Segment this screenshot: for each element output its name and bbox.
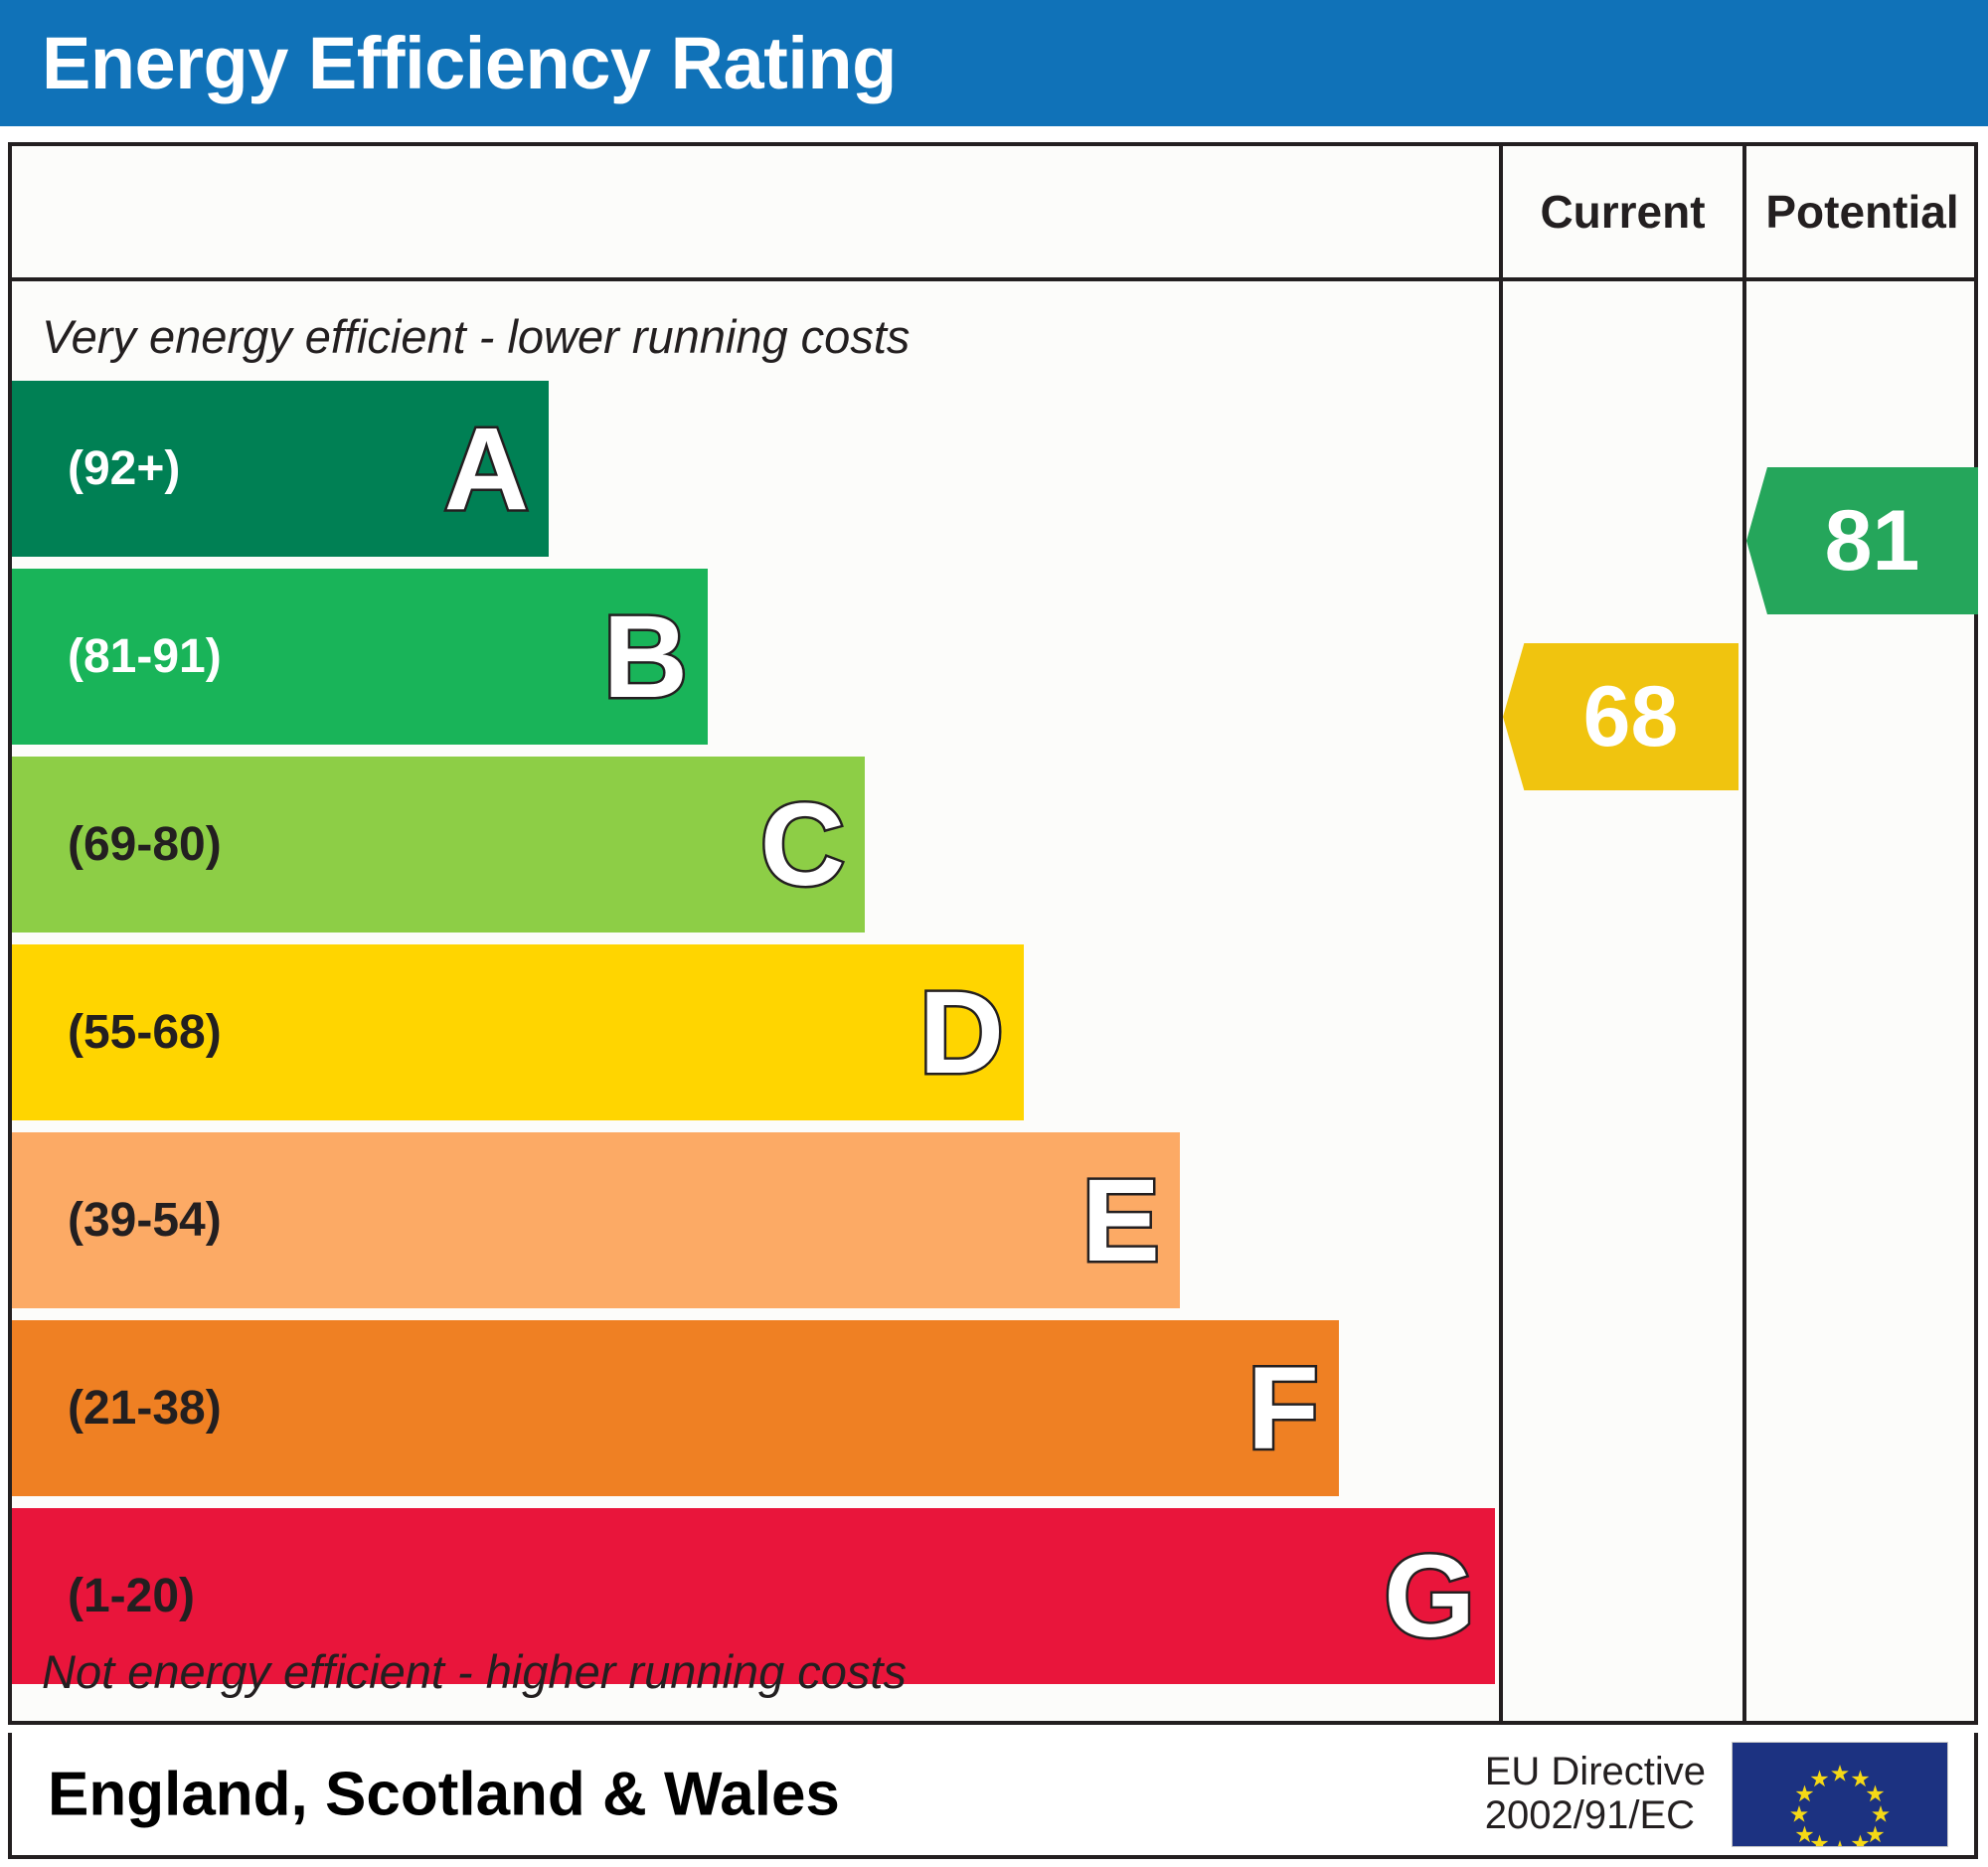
band-d: (55-68) D [12,944,1024,1120]
current-rating-value: 68 [1583,674,1679,760]
band-c-range: (69-80) [68,821,222,869]
band-row-a: (92+) A [12,381,1499,557]
column-header-row: Current Potential [12,146,1974,281]
eu-directive-line2: 2002/91/EC [1485,1794,1706,1839]
band-row-c: (69-80) C [12,757,1499,933]
band-row-e: (39-54) E [12,1132,1499,1308]
band-a-letter: A [444,411,529,528]
eu-directive-label: EU Directive 2002/91/EC [1485,1750,1706,1839]
column-header-current: Current [1499,146,1742,277]
band-b-range: (81-91) [68,633,222,681]
band-a-range: (92+) [68,445,180,493]
eu-flag-icon [1732,1742,1948,1847]
page-title: Energy Efficiency Rating [42,27,897,100]
band-d-range: (55-68) [68,1009,222,1057]
current-rating-cell: 68 [1503,643,1739,790]
band-list: (92+) A (81-91) B (69-80) C [12,381,1499,1696]
region-label: England, Scotland & Wales [48,1759,840,1829]
band-b: (81-91) B [12,569,708,745]
bands-area: Very energy efficient - lower running co… [12,281,1499,1721]
potential-rating-arrow: 81 [1746,467,1978,614]
band-e: (39-54) E [12,1132,1180,1308]
band-row-b: (81-91) B [12,569,1499,745]
column-header-potential: Potential [1742,146,1978,277]
footer-bar: England, Scotland & Wales EU Directive 2… [8,1733,1978,1859]
current-rating-arrow: 68 [1503,643,1739,790]
band-c-letter: C [760,786,845,904]
caption-efficient: Very energy efficient - lower running co… [42,309,910,364]
divider-current [1499,281,1503,1721]
potential-rating-cell: 81 [1746,467,1978,614]
band-f-range: (21-38) [68,1385,222,1433]
band-g-letter: G [1384,1538,1475,1655]
band-b-letter: B [603,598,688,716]
caption-not-efficient: Not energy efficient - higher running co… [42,1644,907,1699]
potential-rating-value: 81 [1825,498,1920,584]
band-row-f: (21-38) F [12,1320,1499,1496]
band-f-letter: F [1247,1350,1319,1467]
band-f: (21-38) F [12,1320,1339,1496]
band-g-range: (1-20) [68,1573,195,1620]
band-c: (69-80) C [12,757,865,933]
chart-frame: Current Potential Very energy efficient … [8,142,1978,1725]
epc-certificate-chart: Energy Efficiency Rating Current Potenti… [0,0,1988,1867]
band-a: (92+) A [12,381,549,557]
band-e-letter: E [1081,1162,1160,1279]
band-d-letter: D [919,974,1004,1092]
title-bar: Energy Efficiency Rating [0,0,1988,126]
band-e-range: (39-54) [68,1197,222,1245]
band-row-d: (55-68) D [12,944,1499,1120]
eu-directive-line1: EU Directive [1485,1750,1706,1794]
